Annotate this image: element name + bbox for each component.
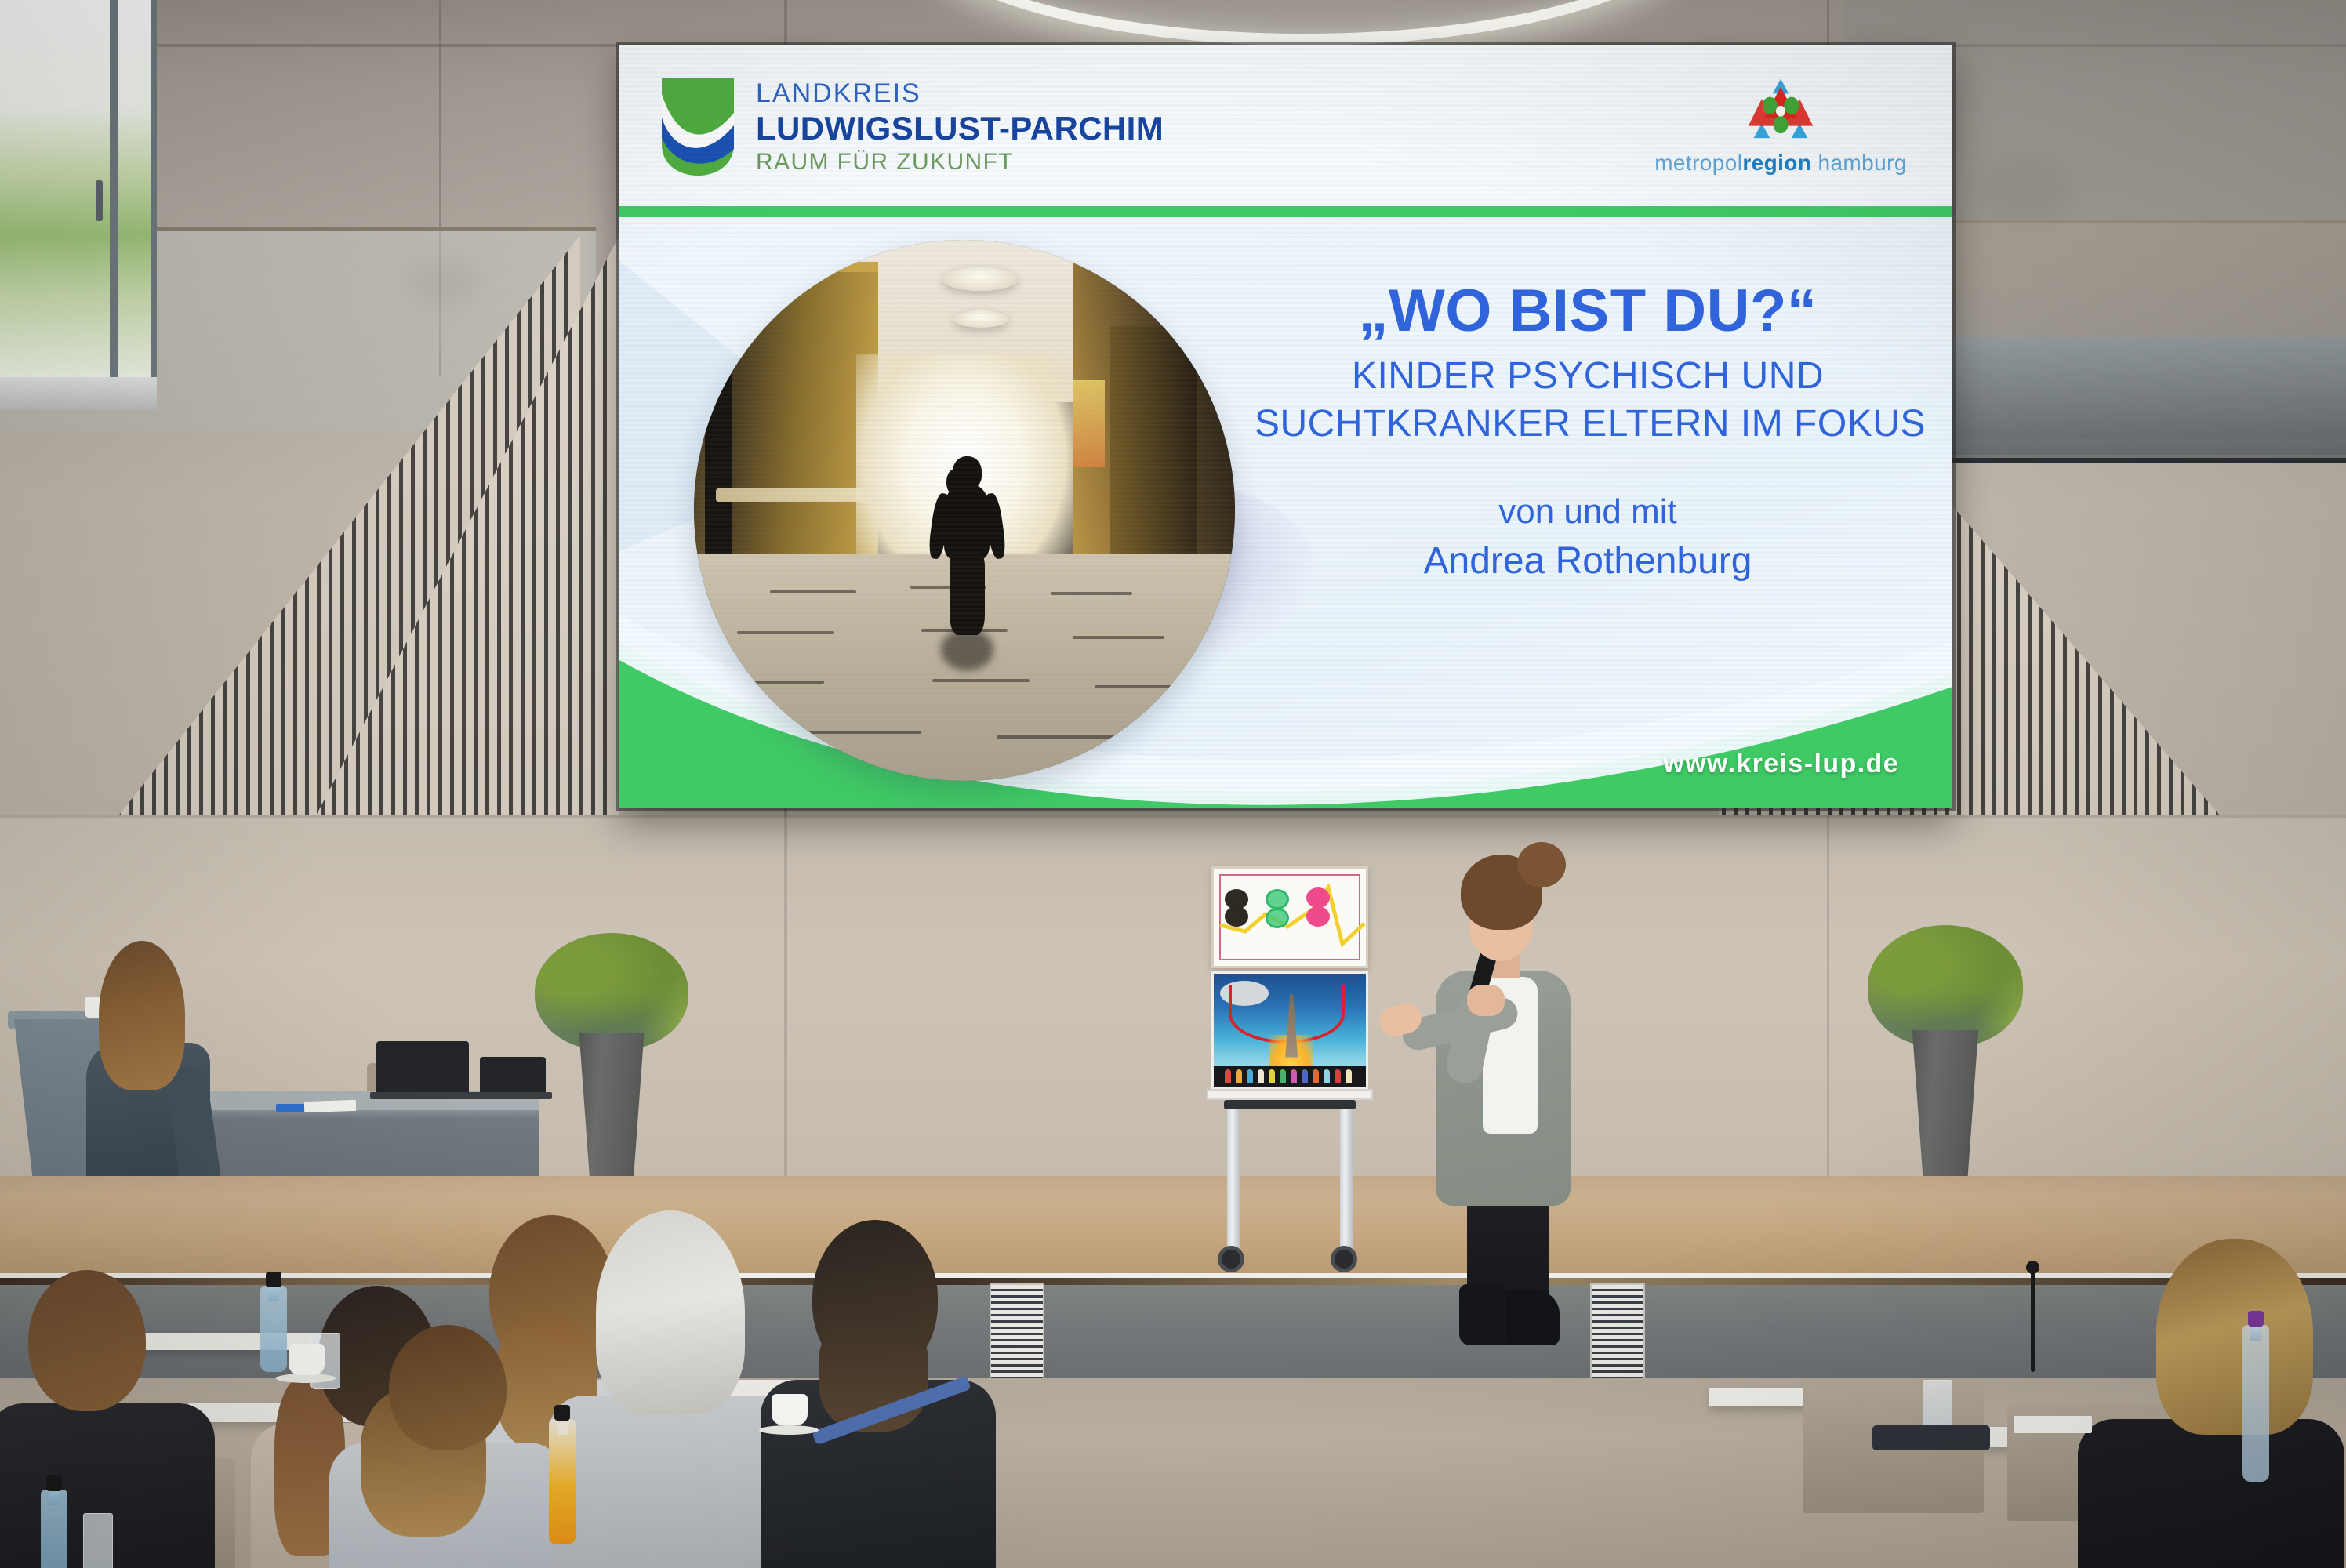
drinking-glass-1[interactable]	[83, 1513, 113, 1568]
board-collage-panel	[1211, 866, 1368, 968]
presenter-person	[1407, 855, 1588, 1254]
landkreis-logo: LANDKREIS LUDWIGSLUST-PARCHIM RAUM FÜR Z…	[660, 77, 1164, 177]
audience-person-4	[314, 1239, 549, 1568]
presentation-slide: LANDKREIS LUDWIGSLUST-PARCHIM RAUM FÜR Z…	[619, 45, 1952, 808]
metropolregion-logo-text: metropolregion hamburg	[1651, 151, 1910, 176]
mrh-part1: metropol	[1654, 151, 1742, 175]
gooseneck-microphone-right	[2031, 1270, 2035, 1372]
metropolregion-logo: metropolregion hamburg	[1651, 74, 1910, 176]
audience-person-5	[549, 1184, 784, 1568]
juice-bottle[interactable]	[549, 1419, 576, 1544]
presenter-hair-bun	[1517, 842, 1566, 887]
slide-corridor-photo	[694, 240, 1235, 781]
conference-photo: LANDKREIS LUDWIGSLUST-PARCHIM RAUM FÜR Z…	[0, 0, 2346, 1568]
mrh-part2: hamburg	[1811, 151, 1907, 175]
water-bottle-2[interactable]	[260, 1286, 287, 1372]
slide-main-title: „WO BIST DU?“	[1255, 281, 1921, 342]
landkreis-logo-text: LANDKREIS LUDWIGSLUST-PARCHIM RAUM FÜR Z…	[756, 80, 1164, 174]
coffee-cup-2[interactable]	[289, 1344, 325, 1375]
water-bottle-3[interactable]	[2242, 1325, 2269, 1482]
glass-reflection-panel	[1907, 337, 2346, 463]
board-diorama-box	[1211, 971, 1368, 1089]
audience-person-6	[768, 1184, 988, 1568]
planter-left	[533, 933, 690, 1192]
blue-object-on-table	[276, 1104, 307, 1112]
paper-on-table	[304, 1100, 356, 1112]
laptop-1[interactable]	[376, 1041, 469, 1093]
slide-url: www.kreis-lup.de	[1663, 749, 1899, 779]
metropolregion-triangle-logo-icon	[1651, 74, 1910, 146]
board-caster-left	[1218, 1246, 1244, 1272]
vent-grille-right	[1590, 1283, 1645, 1385]
logo-line-1: LANDKREIS	[756, 80, 1164, 107]
coffee-cup-1[interactable]	[772, 1394, 808, 1425]
slide-subtitle-1: KINDER PSYCHISCH UND	[1255, 354, 1921, 397]
slide-title-block: „WO BIST DU?“ KINDER PSYCHISCH UND SUCHT…	[1255, 281, 1921, 583]
slide-byline-2: Andrea Rothenburg	[1255, 539, 1921, 583]
projection-screen: LANDKREIS LUDWIGSLUST-PARCHIM RAUM FÜR Z…	[619, 45, 1952, 808]
vent-grille-left	[990, 1283, 1044, 1385]
presenter-boot-left	[1459, 1284, 1506, 1345]
window-left	[0, 0, 157, 384]
water-bottle-1[interactable]	[41, 1490, 67, 1568]
window-handle[interactable]	[96, 180, 103, 221]
window-mullion	[110, 0, 118, 384]
logo-line-2: LUDWIGSLUST-PARCHIM	[756, 112, 1164, 145]
slide-byline-1: von und mit	[1255, 492, 1921, 532]
child-silhouette	[927, 456, 1008, 662]
landkreis-shield-logo-icon	[660, 77, 735, 177]
notepad-on-table	[2014, 1416, 2092, 1433]
mrh-bold: region	[1742, 151, 1811, 175]
logo-line-3: RAUM FÜR ZUKUNFT	[756, 151, 1164, 174]
slide-subtitle-2: SUCHTKRANKER ELTERN IM FOKUS	[1255, 402, 1921, 445]
presentation-board	[1211, 866, 1368, 1274]
laptop-2[interactable]	[480, 1057, 546, 1093]
planter-right	[1866, 925, 2023, 1192]
saucer-1	[759, 1425, 819, 1435]
closed-laptop-on-table[interactable]	[1872, 1425, 1990, 1450]
board-caster-right	[1331, 1246, 1357, 1272]
audience-person-7	[2078, 1223, 2344, 1568]
